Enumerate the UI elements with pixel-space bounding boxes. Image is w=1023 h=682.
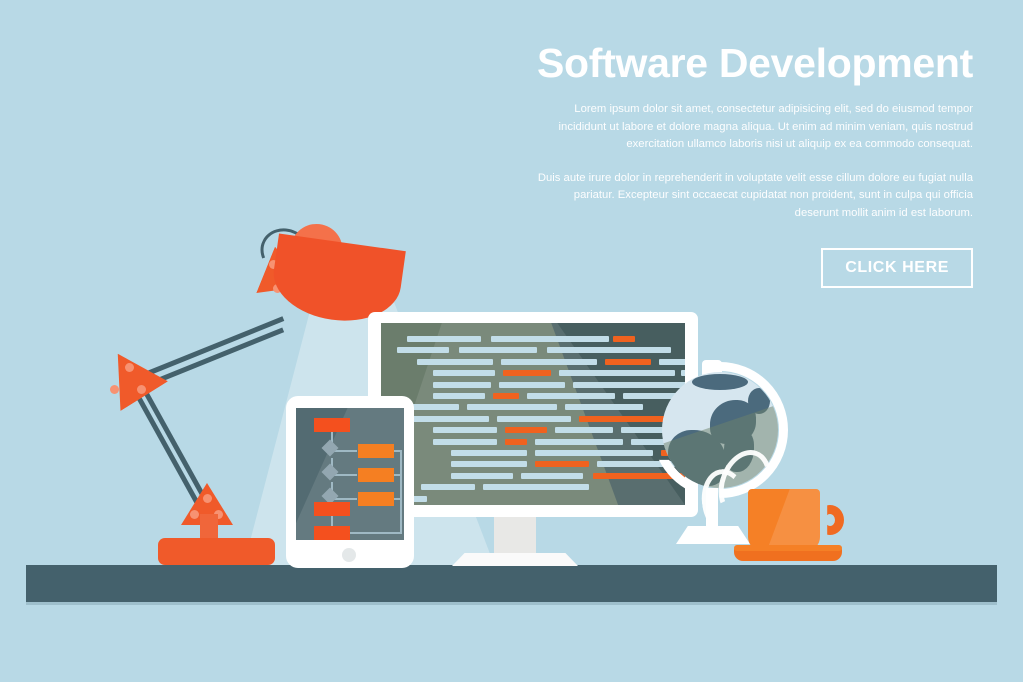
code-line	[467, 404, 557, 410]
code-line	[401, 416, 489, 422]
desk-shadow	[26, 602, 997, 605]
monitor-foot	[452, 553, 578, 566]
code-line-highlight	[503, 370, 551, 376]
hero-text-block: Software Development Lorem ipsum dolor s…	[533, 42, 973, 288]
flowchart-connector	[350, 532, 402, 534]
code-line	[433, 439, 497, 445]
hero-paragraph-2: Duis aute irure dolor in reprehenderit i…	[533, 170, 973, 223]
code-line	[433, 427, 497, 433]
cup-saucer-top	[734, 545, 842, 551]
code-line	[535, 439, 623, 445]
lamp-joint-mid	[94, 339, 168, 411]
code-line	[547, 347, 671, 353]
lamp-joint-dot	[203, 494, 212, 503]
tablet	[286, 396, 414, 568]
tablet-home-button[interactable]	[342, 548, 356, 562]
desk-surface	[26, 565, 997, 602]
flowchart-process-node	[358, 468, 394, 482]
code-line	[433, 370, 495, 376]
code-line	[527, 393, 615, 399]
code-line	[535, 450, 653, 456]
code-line	[565, 404, 643, 410]
code-line	[433, 393, 485, 399]
illustration-canvas: Software Development Lorem ipsum dolor s…	[0, 0, 1023, 682]
code-line-highlight	[613, 336, 635, 342]
code-line	[421, 484, 475, 490]
code-line-highlight	[493, 393, 519, 399]
flowchart-connector	[333, 450, 357, 452]
monitor-neck	[494, 517, 536, 555]
code-line	[491, 336, 609, 342]
code-line	[499, 382, 565, 388]
hero-paragraph-1: Lorem ipsum dolor sit amet, consectetur …	[533, 101, 973, 154]
code-line	[407, 336, 481, 342]
lamp-upper-arm-a	[134, 316, 284, 381]
code-line	[497, 416, 571, 422]
lamp-joint-dot	[125, 363, 134, 372]
code-line	[459, 347, 537, 353]
code-line	[397, 347, 449, 353]
page-title: Software Development	[533, 42, 973, 85]
lamp-joint-dot	[137, 385, 146, 394]
code-line	[555, 427, 613, 433]
code-line	[417, 359, 493, 365]
lamp-joint-dot	[190, 510, 199, 519]
code-line-highlight	[505, 427, 547, 433]
cup-glare	[748, 489, 820, 551]
code-line	[521, 473, 583, 479]
coffee-cup	[742, 487, 852, 567]
flowchart-connector	[333, 498, 357, 500]
code-line	[451, 473, 513, 479]
click-here-button[interactable]: CLICK HERE	[821, 248, 973, 288]
flowchart-process-node	[358, 444, 394, 458]
flowchart-process-node	[314, 502, 350, 516]
code-line	[483, 484, 589, 490]
code-line	[451, 461, 527, 467]
flowchart-process-node	[314, 418, 350, 432]
lamp-joint-dot	[110, 385, 119, 394]
flowchart-process-node	[314, 526, 350, 540]
flowchart-connector	[333, 474, 357, 476]
flowchart-connector	[400, 450, 402, 532]
lamp-base	[158, 538, 275, 565]
code-line	[501, 359, 597, 365]
code-line	[433, 382, 491, 388]
cup-handle	[816, 505, 844, 535]
tablet-screen	[296, 408, 404, 540]
code-line-highlight	[505, 439, 527, 445]
code-line-highlight	[535, 461, 589, 467]
flowchart-process-node	[358, 492, 394, 506]
code-line	[451, 450, 527, 456]
